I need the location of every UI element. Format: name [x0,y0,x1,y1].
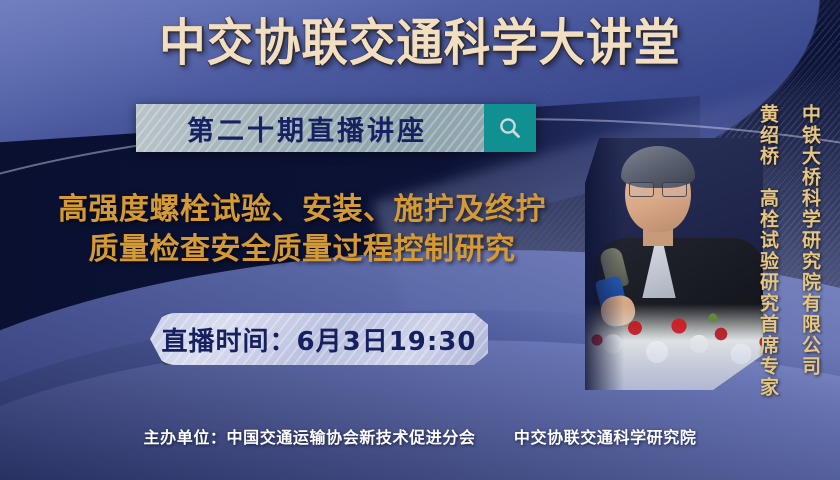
episode-label: 第二十期直播讲座 [136,104,478,152]
search-button[interactable] [484,104,536,152]
footer-organizer: 主办单位：中国交通运输协会新技术促进分会 [144,428,476,447]
speaker-organization: 中铁大桥科学研究院有限公司 [797,104,824,377]
headline-line-2: 质量检查安全质量过程控制研究 [8,230,596,270]
footer-credits: 主办单位：中国交通运输协会新技术促进分会 中交协联交通科学研究院 [0,424,840,448]
headline-line-1: 高强度螺栓试验、安装、施拧及终拧 [58,192,546,227]
broadcast-time-pill: 直播时间：6月3日19:30 [150,313,488,365]
search-icon [497,115,523,141]
footer-institute: 中交协联交通科学研究院 [514,428,697,447]
webinar-promo-banner: 中交协联交通科学大讲堂 第二十期直播讲座 高强度螺栓试验、安装、施拧及终拧 质量… [0,0,840,480]
speaker-name-and-role: 黄绍桥 高栓试验研究首席专家 [755,104,782,398]
broadcast-time-label: 直播时间：6月3日19:30 [162,321,477,358]
episode-bar: 第二十期直播讲座 [136,104,536,152]
page-title: 中交协联交通科学大讲堂 [29,18,810,68]
speaker-photo [585,138,763,390]
speaker-glasses [629,182,687,195]
lecture-headline: 高强度螺栓试验、安装、施拧及终拧 质量检查安全质量过程控制研究 [8,190,596,270]
